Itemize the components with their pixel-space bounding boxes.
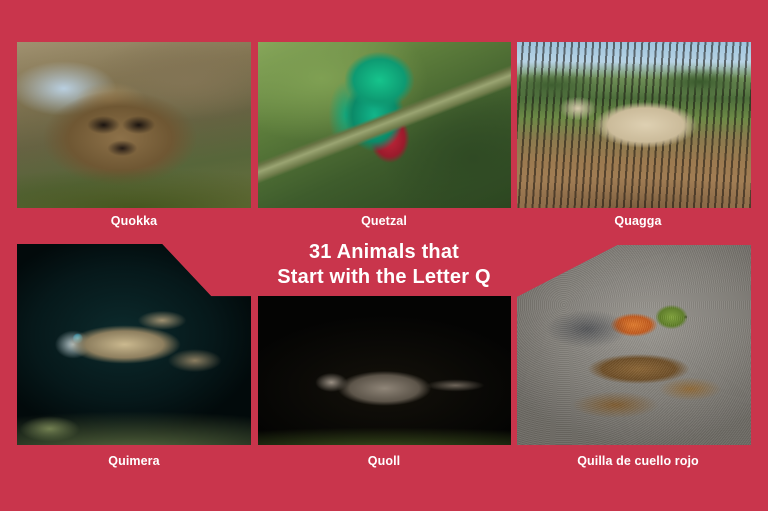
caption-quetzal: Quetzal <box>361 214 407 228</box>
caption-quilla-de-cuello-rojo: Quilla de cuello rojo <box>577 454 699 468</box>
photo-tile-quetzal <box>258 42 511 208</box>
caption-quokka: Quokka <box>111 214 157 228</box>
poster-title: 31 Animals that Start with the Letter Q <box>196 240 572 290</box>
caption-quoll: Quoll <box>368 454 400 468</box>
photo-tile-quoll <box>258 296 511 445</box>
caption-quagga: Quagga <box>614 214 661 228</box>
photo-tile-quokka <box>17 42 251 208</box>
poster-title-line-1: 31 Animals that <box>196 240 572 265</box>
quokka-photo <box>17 42 251 208</box>
quagga-photo <box>517 42 751 208</box>
quetzal-photo <box>258 42 511 208</box>
caption-quimera: Quimera <box>108 454 159 468</box>
quoll-photo <box>258 296 511 445</box>
poster-title-line-2: Start with the Letter Q <box>196 265 572 290</box>
poster-canvas: Quokka Quetzal Quagga Quimera Quoll Quil… <box>0 0 768 511</box>
photo-tile-quagga <box>517 42 751 208</box>
